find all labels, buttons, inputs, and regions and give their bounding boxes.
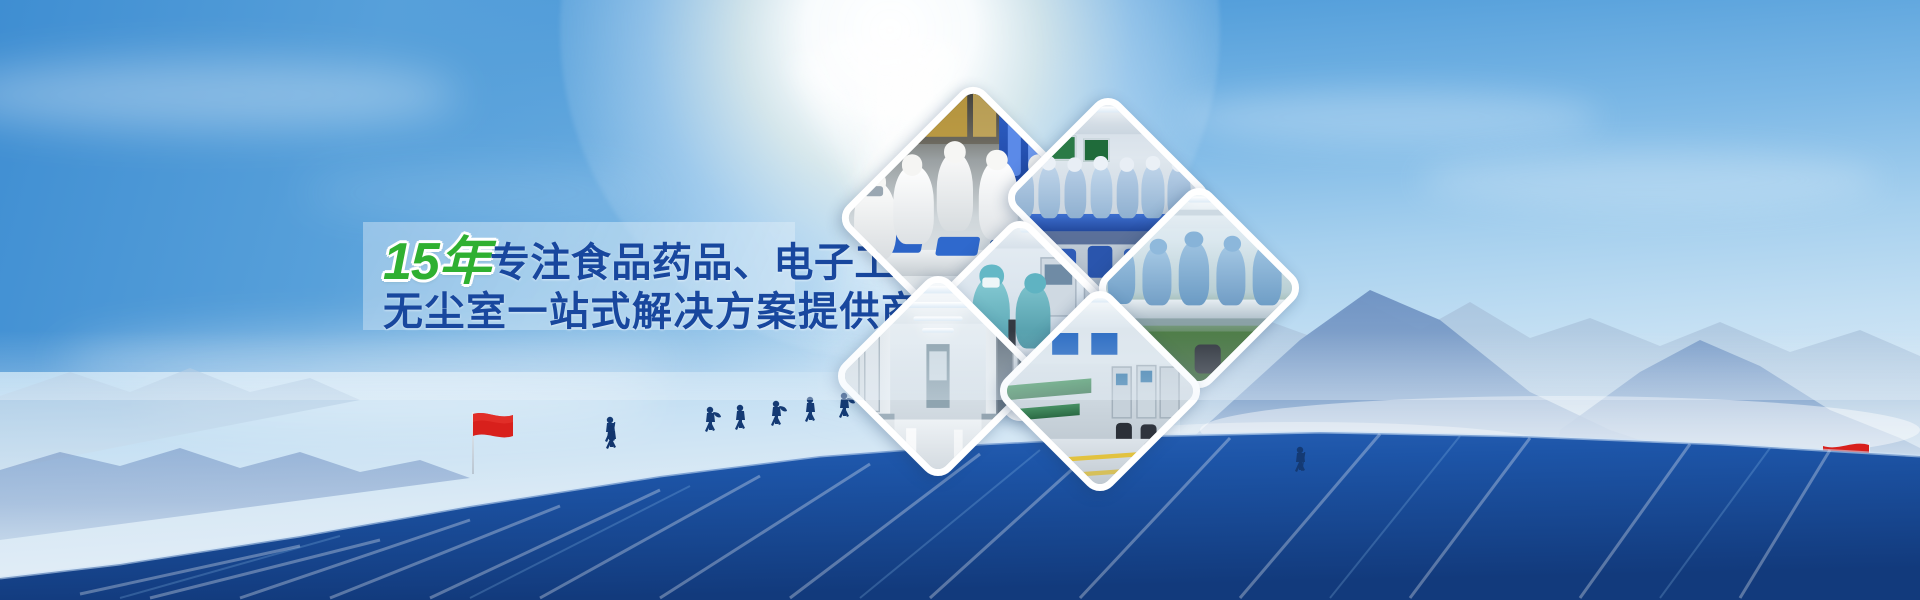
diamond-photo-collage	[0, 0, 1920, 600]
banner-root: 15年专注食品药品、电子工业 无尘室一站式解决方案提供商	[0, 0, 1920, 600]
depth-haze	[0, 330, 1920, 400]
